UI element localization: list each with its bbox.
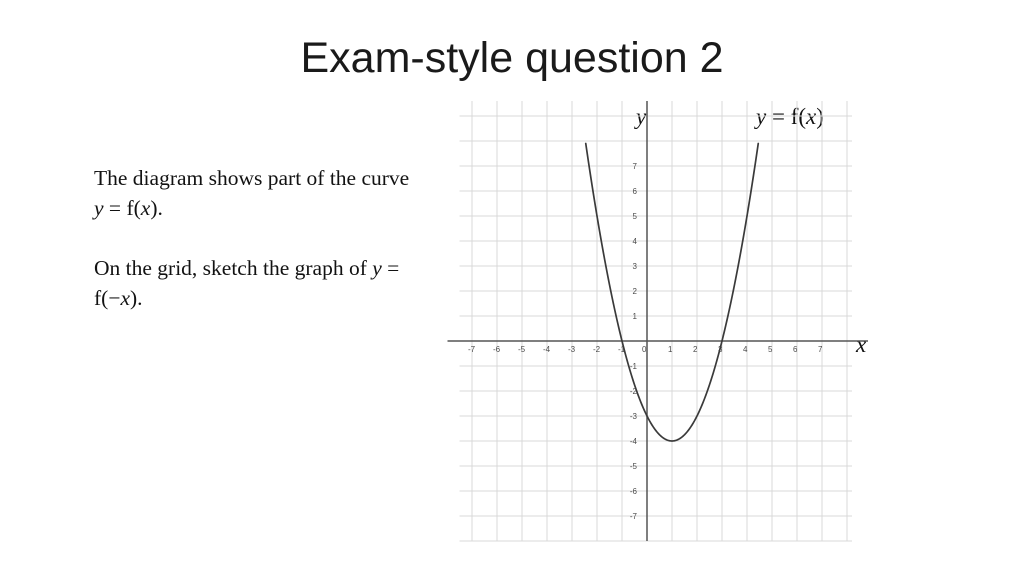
axis-lines xyxy=(448,101,869,541)
x-tick-label: 6 xyxy=(793,345,798,354)
y-tick-label: -6 xyxy=(630,487,638,496)
paragraph1-variable-y: y xyxy=(94,196,104,220)
y-tick-label: -3 xyxy=(630,412,638,421)
y-tick-label: 5 xyxy=(633,212,638,221)
y-tick-label: -7 xyxy=(630,512,638,521)
x-tick-label: -5 xyxy=(518,345,526,354)
y-tick-label: 3 xyxy=(633,262,638,271)
paragraph1-variable-x: x xyxy=(141,196,151,220)
x-tick-label: 7 xyxy=(818,345,823,354)
y-tick-label: 6 xyxy=(633,187,638,196)
y-tick-label: -4 xyxy=(630,437,638,446)
paragraph2-text: On the grid, sketch the graph of xyxy=(94,256,372,280)
grid-lines xyxy=(460,101,853,541)
slide-canvas: Exam-style question 2 The diagram shows … xyxy=(0,0,1024,576)
paragraph-spacer xyxy=(94,223,424,253)
x-tick-label: 5 xyxy=(768,345,773,354)
x-tick-label: -3 xyxy=(568,345,576,354)
graph-figure: y y = f(x) x -7-6-5-4-3-2-10123456776543… xyxy=(440,96,900,566)
paragraph1-equals: = xyxy=(104,196,127,220)
paragraph1-close: ). xyxy=(150,196,163,220)
question-paragraph-2: On the grid, sketch the graph of y = f(−… xyxy=(94,253,424,313)
y-tick-label: 4 xyxy=(633,237,638,246)
paragraph2-equals: = xyxy=(382,256,400,280)
paragraph2-variable-x: x xyxy=(120,286,130,310)
x-tick-label: -4 xyxy=(543,345,551,354)
x-tick-label: 0 xyxy=(642,345,647,354)
x-tick-label: 2 xyxy=(693,345,698,354)
coordinate-grid-svg: -7-6-5-4-3-2-1012345677654321-1-2-3-4-5-… xyxy=(440,96,900,566)
x-tick-label: -7 xyxy=(468,345,476,354)
paragraph1-function: f( xyxy=(126,196,140,220)
y-tick-label: 7 xyxy=(633,162,638,171)
y-tick-label: -5 xyxy=(630,462,638,471)
x-tick-label: -6 xyxy=(493,345,501,354)
y-tick-label: -1 xyxy=(630,362,638,371)
question-text-block: The diagram shows part of the curve y = … xyxy=(94,163,424,313)
x-tick-label: 1 xyxy=(668,345,673,354)
paragraph2-close: ). xyxy=(130,286,143,310)
y-tick-label: 1 xyxy=(633,312,638,321)
paragraph1-text: The diagram shows part of the curve xyxy=(94,166,409,190)
x-tick-label: -2 xyxy=(593,345,601,354)
question-paragraph-1: The diagram shows part of the curve y = … xyxy=(94,163,424,223)
page-title: Exam-style question 2 xyxy=(0,34,1024,83)
x-tick-label: 4 xyxy=(743,345,748,354)
paragraph2-function: f(− xyxy=(94,286,120,310)
paragraph2-variable-y: y xyxy=(372,256,382,280)
y-tick-label: 2 xyxy=(633,287,638,296)
